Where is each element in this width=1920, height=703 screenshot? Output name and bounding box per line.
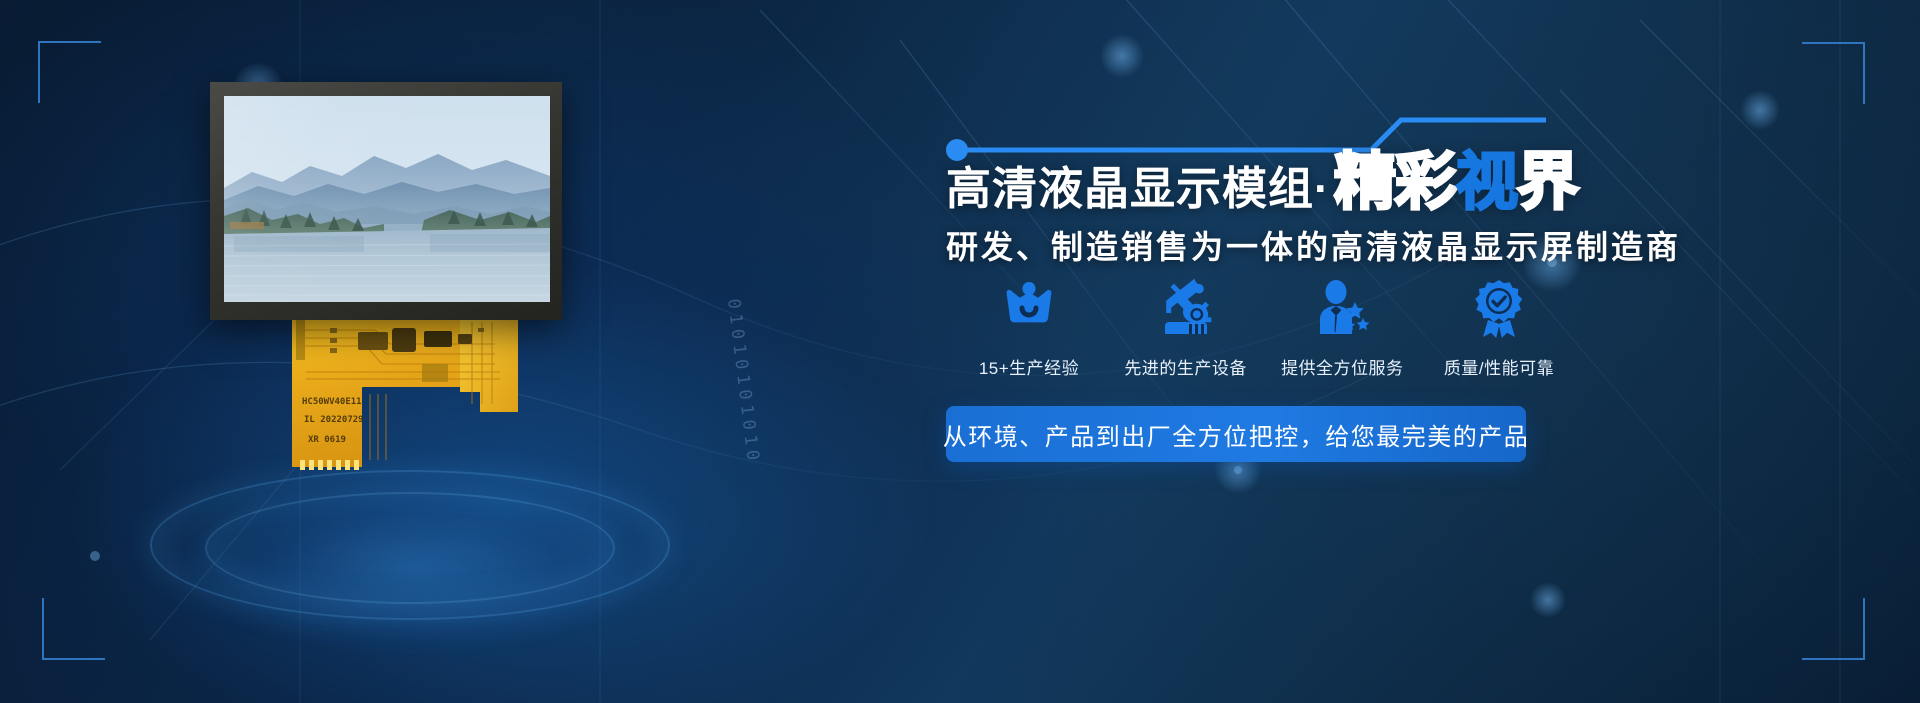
headline-strong-part-3: 界 [1517, 148, 1578, 217]
headline-strong-text: 精彩视界 [1334, 152, 1578, 214]
fpc-model-text: HC50WV40E11 [302, 397, 362, 407]
lcd-screen [224, 96, 550, 302]
robot-arm-icon [1155, 272, 1217, 340]
feature-item: 15+生产经验 [954, 272, 1104, 379]
subheadline: 研发、制造销售为一体的高清液晶显示屏制造商 [946, 222, 1681, 268]
crown-icon [998, 272, 1060, 340]
headline: 高清液晶显示模组· 精彩视界 [946, 152, 1578, 214]
feature-item: 先进的生产设备 [1111, 272, 1261, 379]
corner-bracket-top-left [38, 41, 101, 103]
corner-bracket-bottom-left [42, 598, 105, 660]
headline-strong-part-2: 视 [1456, 148, 1517, 217]
screen-landscape-image [224, 96, 550, 302]
feature-label: 质量/性能可靠 [1444, 354, 1554, 379]
headline-strong-part-1: 精彩 [1334, 148, 1456, 217]
quality-badge-icon [1468, 272, 1530, 340]
feature-label: 15+生产经验 [979, 354, 1079, 379]
feature-label: 先进的生产设备 [1124, 354, 1247, 379]
podium-ring-inner [205, 492, 615, 604]
cta-text: 从环境、产品到出厂全方位把控，给您最完美的产品 [943, 417, 1530, 452]
feature-item: 质量/性能可靠 [1424, 272, 1574, 379]
feature-item: 提供全方位服务 [1267, 272, 1417, 379]
feature-list: 15+生产经验 先进的生产设备 [954, 272, 1574, 379]
lcd-module-frame [210, 82, 562, 320]
cta-banner[interactable]: 从环境、产品到出厂全方位把控，给您最完美的产品 [946, 406, 1526, 462]
product-image: HC50WV40E11 IL 20220729 XR 0619 [210, 82, 640, 482]
headline-plain-text: 高清液晶显示模组· [946, 166, 1330, 214]
service-star-icon [1311, 272, 1373, 340]
fpc-code-text: XR 0619 [308, 435, 346, 445]
fpc-lot-text: IL 20220729 [304, 415, 364, 425]
banner-content: 高清液晶显示模组· 精彩视界 研发、制造销售为一体的高清液晶显示屏制造商 15+… [946, 0, 1876, 703]
banner-stage: 01010101010 [0, 0, 1920, 703]
feature-label: 提供全方位服务 [1281, 354, 1404, 379]
